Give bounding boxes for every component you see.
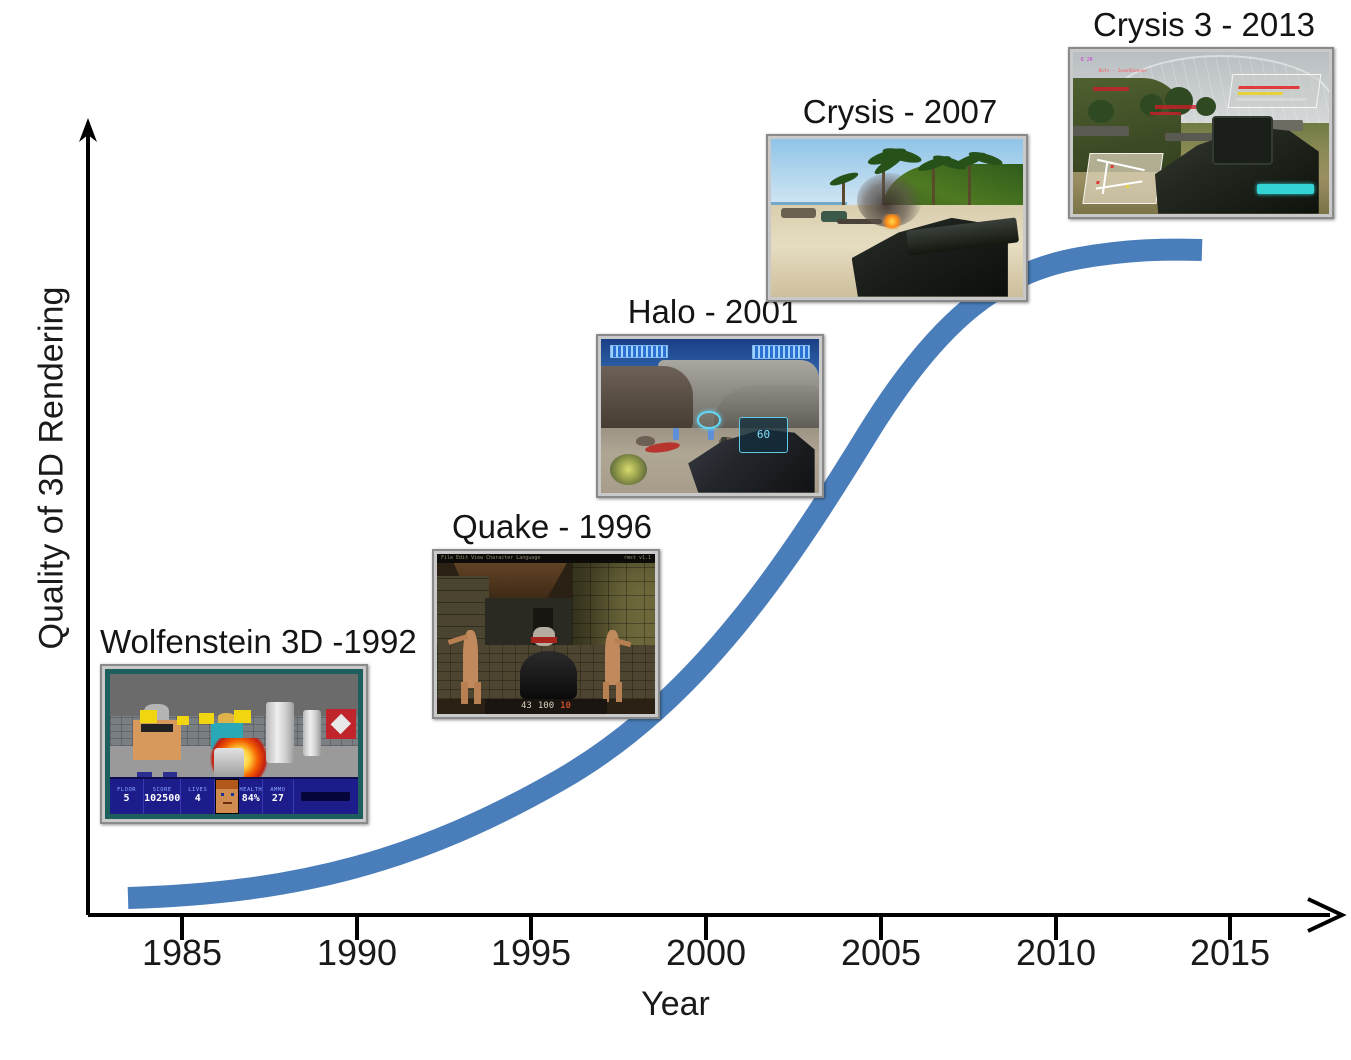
crysis3-scope: [1212, 116, 1272, 165]
crysis-scene: [771, 139, 1023, 297]
crysis3-status-hud: [1227, 74, 1321, 108]
screenshot-crysis: [766, 134, 1028, 302]
quake-scene: File Edit View Character Language rmst v…: [437, 554, 655, 714]
halo-scene: 60: [601, 339, 819, 493]
quake-menubar: File Edit View Character Language rmst v…: [437, 554, 655, 564]
halo-npc: [673, 428, 680, 440]
crysis3-enemy-tag: [1093, 87, 1129, 91]
hud-floor: FLOOR 5: [110, 779, 144, 814]
milestone-caption-crysis3: Crysis 3 - 2013: [1068, 8, 1340, 43]
quake-armor: 43: [521, 701, 532, 711]
x-tick-label-2010: 2010: [996, 932, 1116, 974]
screenshot-quake: File Edit View Character Language rmst v…: [432, 549, 660, 719]
halo-ammo-counter: 60: [739, 417, 789, 453]
x-axis: [88, 899, 1342, 931]
crysis3-killfeed: Bots - JeanVGunner: [1099, 69, 1148, 74]
milestone-quake: Quake - 1996: [432, 510, 672, 719]
screenshot-crysis3: 8 2K Bots - JeanVGunner: [1068, 47, 1334, 219]
hud-ammo: AMMO 27: [263, 779, 293, 814]
crysis3-weapon-glow: [1257, 184, 1313, 194]
x-tick-label-2015: 2015: [1170, 932, 1290, 974]
y-axis-title: Quality of 3D Rendering: [33, 330, 72, 650]
wolfenstein-hud: FLOOR 5 SCORE 102500 LIVES 4: [110, 777, 358, 814]
x-tick-label-2005: 2005: [821, 932, 941, 974]
chart-canvas: Quality of 3D Rendering Year 1985 1990 1…: [0, 0, 1351, 1060]
milestone-crysis3: Crysis 3 - 2013 8 2K Bots - JeanVGunner: [1068, 8, 1340, 219]
screenshot-halo: 60: [596, 334, 824, 498]
wolfenstein-flag: [326, 709, 356, 740]
quake-hud: 43 100 10: [485, 699, 607, 713]
halo-radar: [752, 345, 811, 359]
quake-weapon: [520, 651, 577, 699]
milestone-caption-wolfenstein: Wolfenstein 3D -1992: [100, 625, 382, 660]
milestone-caption-crysis: Crysis - 2007: [766, 95, 1034, 130]
quake-health: 100: [538, 701, 554, 711]
x-axis-title: Year: [0, 985, 1351, 1024]
hud-lives: LIVES 4: [181, 779, 215, 814]
crysis3-score: 8 2K: [1081, 57, 1093, 63]
hud-bj-face-icon: [215, 779, 239, 814]
screenshot-wolfenstein: FLOOR 5 SCORE 102500 LIVES 4: [100, 664, 368, 824]
milestone-caption-quake: Quake - 1996: [432, 510, 672, 545]
milestone-crysis: Crysis - 2007: [766, 95, 1034, 302]
x-tick-label-1990: 1990: [297, 932, 417, 974]
halo-reticle: [697, 411, 721, 429]
hud-health: HEALTH 84%: [239, 779, 263, 814]
quake-ammo: 10: [560, 701, 571, 711]
halo-motion-tracker: [610, 454, 647, 485]
hud-weapon-icon: [294, 779, 358, 814]
y-axis: [79, 118, 97, 915]
x-tick-label-1995: 1995: [471, 932, 591, 974]
milestone-wolfenstein: Wolfenstein 3D -1992: [100, 625, 382, 824]
hud-score: SCORE 102500: [144, 779, 181, 814]
halo-shield-bar: [610, 345, 669, 358]
wolfenstein-scene: FLOOR 5 SCORE 102500 LIVES 4: [105, 669, 363, 819]
x-tick-label-2000: 2000: [646, 932, 766, 974]
crysis3-scene: 8 2K Bots - JeanVGunner: [1073, 52, 1329, 214]
crysis-fire: [882, 214, 902, 228]
milestone-halo: Halo - 2001: [596, 295, 830, 498]
x-tick-label-1985: 1985: [122, 932, 242, 974]
wolfenstein-weapon: [214, 748, 244, 779]
crysis3-minimap: [1082, 153, 1163, 204]
